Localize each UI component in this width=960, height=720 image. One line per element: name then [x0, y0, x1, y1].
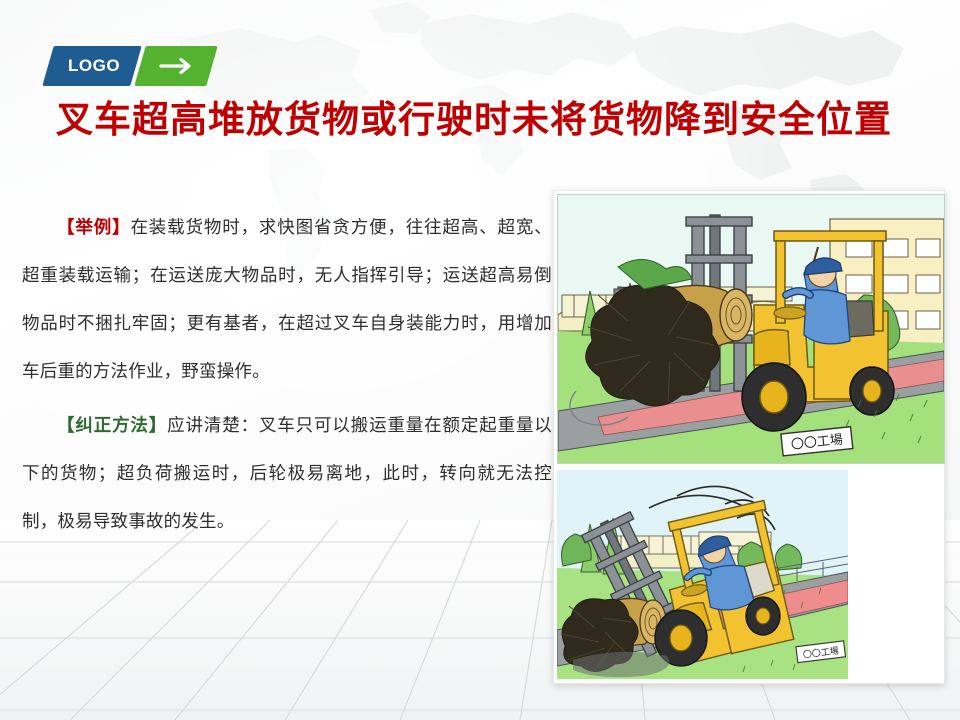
paragraph-example: 【举例】在装载货物时，求快图省贪方便，往往超高、超宽、超重装载运输；在运送庞大物… — [22, 204, 552, 396]
arrow-right-icon — [159, 57, 193, 75]
page-title: 叉车超高堆放货物或行驶时未将货物降到安全位置 — [56, 96, 916, 142]
body-text: 【举例】在装载货物时，求快图省贪方便，往往超高、超宽、超重装载运输；在运送庞大物… — [22, 204, 552, 546]
logo[interactable]: LOGO — [48, 46, 212, 86]
forklift-carrying-oversized-tree-illustration: 〇〇工場 — [557, 194, 945, 464]
slide-canvas: LOGO 叉车超高堆放货物或行驶时未将货物降到安全位置 【举例】在装载货物时，求… — [0, 0, 960, 720]
example-tag: 【举例】 — [57, 218, 130, 238]
logo-badge-blue[interactable]: LOGO — [42, 46, 142, 86]
correction-tag: 【纠正方法】 — [57, 416, 167, 436]
paragraph-correction: 【纠正方法】应讲清楚：叉车只可以搬运重量在额定起重量以下的货物；超负荷搬运时，后… — [22, 402, 552, 546]
example-text: 在装载货物时，求快图省贪方便，往往超高、超宽、超重装载运输；在运送庞大物品时，无… — [22, 218, 552, 382]
logo-badge-green[interactable] — [134, 46, 217, 86]
logo-text: LOGO — [68, 56, 120, 76]
forklift-tipping-forward-illustration: 〇〇工場 — [557, 470, 848, 679]
